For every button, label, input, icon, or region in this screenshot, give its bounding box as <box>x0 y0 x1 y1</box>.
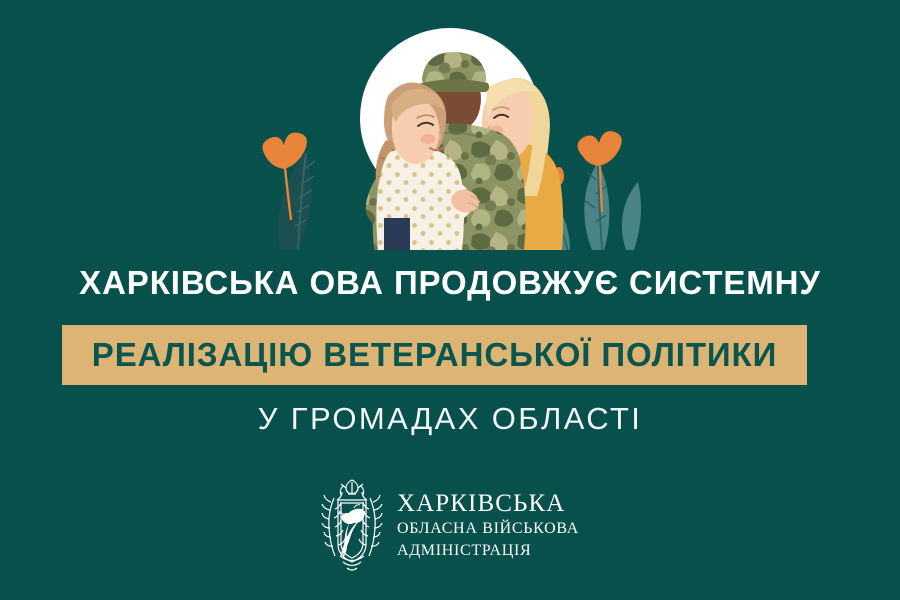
logo-lockup: ХАРКІВСЬКА ОБЛАСНА ВІЙСЬКОВА АДМІНІСТРАЦ… <box>0 476 900 574</box>
logo-text-block: ХАРКІВСЬКА ОБЛАСНА ВІЙСЬКОВА АДМІНІСТРАЦ… <box>397 489 579 562</box>
soldier-family-embrace-illustration <box>240 0 660 250</box>
highlight-banner: РЕАЛІЗАЦІЮ ВЕТЕРАНСЬКОЇ ПОЛІТИКИ <box>62 325 807 385</box>
logo-line-oblasna-viyskova: ОБЛАСНА ВІЙСЬКОВА <box>397 518 579 540</box>
kharkiv-oblast-coat-of-arms-icon <box>321 476 383 574</box>
illustration-region <box>0 0 900 250</box>
logo-line-kharkivska: ХАРКІВСЬКА <box>397 489 579 518</box>
logo-line-administratsiya: АДМІНІСТРАЦІЯ <box>397 540 579 562</box>
poster-canvas: ХАРКІВСЬКА ОВА ПРОДОВЖУЄ СИСТЕМНУ РЕАЛІЗ… <box>0 0 900 600</box>
headline-line-3: У ГРОМАДАХ ОБЛАСТІ <box>0 400 900 438</box>
headline-line-2: РЕАЛІЗАЦІЮ ВЕТЕРАНСЬКОЇ ПОЛІТИКИ <box>92 337 777 373</box>
headline-block: ХАРКІВСЬКА ОВА ПРОДОВЖУЄ СИСТЕМНУ РЕАЛІЗ… <box>0 262 900 304</box>
headline-line-1: ХАРКІВСЬКА ОВА ПРОДОВЖУЄ СИСТЕМНУ <box>0 262 900 304</box>
